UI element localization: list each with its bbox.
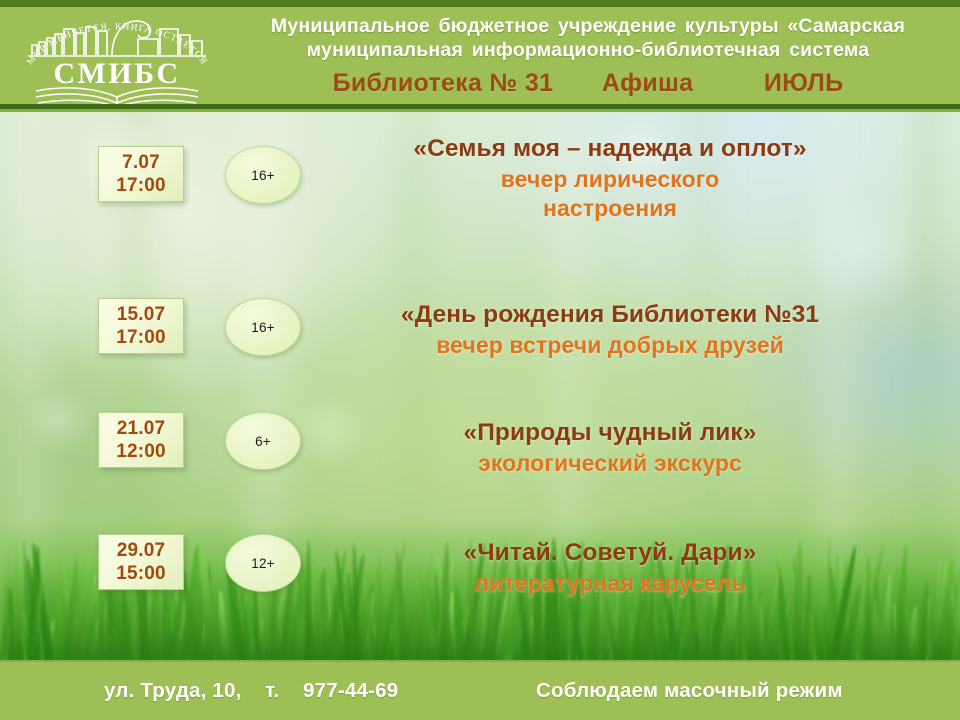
header-line-1: Муниципальное бюджетное учреждение культ… [228, 15, 948, 39]
event-row[interactable]: 15.0717:0016+«День рождения Библиотеки №… [0, 274, 960, 394]
event-age-label: 6+ [255, 434, 271, 449]
header-line-2: муниципальная информационно-библиотечная… [228, 39, 948, 63]
event-subtitle-line: экологический экскурс [300, 449, 920, 478]
event-row[interactable]: 29.0715:0012+«Читай. Советуй. Дари»литер… [0, 510, 960, 630]
event-time: 12:00 [116, 441, 166, 462]
event-row[interactable]: 21.0712:006+«Природы чудный лик»экологич… [0, 388, 960, 508]
event-date: 21.07 [117, 418, 166, 439]
header-text-block: Муниципальное бюджетное учреждение культ… [228, 15, 948, 98]
header-month-label: ИЮЛЬ [764, 69, 844, 97]
event-title: «Природы чудный лик» [300, 418, 920, 449]
event-subtitle-line: вечер встречи добрых друзей [300, 331, 920, 360]
event-age-label: 16+ [251, 168, 275, 183]
footer-address: ул. Труда, 10, т. 977-44-69 [104, 679, 398, 703]
header-line-3: Библиотека № 31 Афиша ИЮЛЬ [228, 68, 948, 99]
event-time: 15:00 [116, 563, 166, 584]
event-title: «День рождения Библиотеки №31 [300, 300, 920, 331]
event-age-label: 16+ [251, 320, 275, 335]
event-subtitle-line: вечер лирического [300, 165, 920, 194]
footer-notice: Соблюдаем масочный режим [536, 679, 843, 703]
event-subtitle-line: настроения [300, 194, 920, 223]
event-age-badge: 16+ [225, 146, 301, 204]
event-age-label: 12+ [251, 556, 275, 571]
library-logo: МИР МЕНЯЕТСЯ, КНИГА ОСТАЁТСЯ [12, 9, 222, 109]
event-subtitle-line: литературная карусель [300, 569, 920, 598]
event-date-box: 7.0717:00 [98, 146, 184, 202]
event-date: 15.07 [117, 304, 166, 325]
footer-band: ул. Труда, 10, т. 977-44-69 Соблюдаем ма… [0, 660, 960, 720]
event-text-block: «Семья моя – надежда и оплот»вечер лирич… [300, 134, 920, 223]
event-date-box: 21.0712:00 [98, 412, 184, 468]
event-date-box: 15.0717:00 [98, 298, 184, 354]
poster-canvas: МИР МЕНЯЕТСЯ, КНИГА ОСТАЁТСЯ [0, 0, 960, 720]
event-age-badge: 16+ [225, 298, 301, 356]
event-date: 29.07 [117, 540, 166, 561]
event-text-block: «Природы чудный лик»экологический экскур… [300, 418, 920, 478]
logo-acronym-text: СМИБС [53, 57, 180, 90]
event-text-block: «День рождения Библиотеки №31вечер встре… [300, 300, 920, 360]
event-title: «Читай. Советуй. Дари» [300, 538, 920, 569]
event-time: 17:00 [116, 175, 166, 196]
header-library-label: Библиотека № 31 [333, 69, 554, 97]
header-divider-light [0, 109, 960, 112]
header-band: МИР МЕНЯЕТСЯ, КНИГА ОСТАЁТСЯ [0, 0, 960, 104]
event-age-badge: 12+ [225, 534, 301, 592]
event-row[interactable]: 7.0717:0016+«Семья моя – надежда и оплот… [0, 122, 960, 242]
event-text-block: «Читай. Советуй. Дари»литературная карус… [300, 538, 920, 598]
header-poster-label: Афиша [602, 69, 694, 97]
event-date-box: 29.0715:00 [98, 534, 184, 590]
event-age-badge: 6+ [225, 412, 301, 470]
event-time: 17:00 [116, 327, 166, 348]
event-title: «Семья моя – надежда и оплот» [300, 134, 920, 165]
event-date: 7.07 [122, 152, 160, 173]
